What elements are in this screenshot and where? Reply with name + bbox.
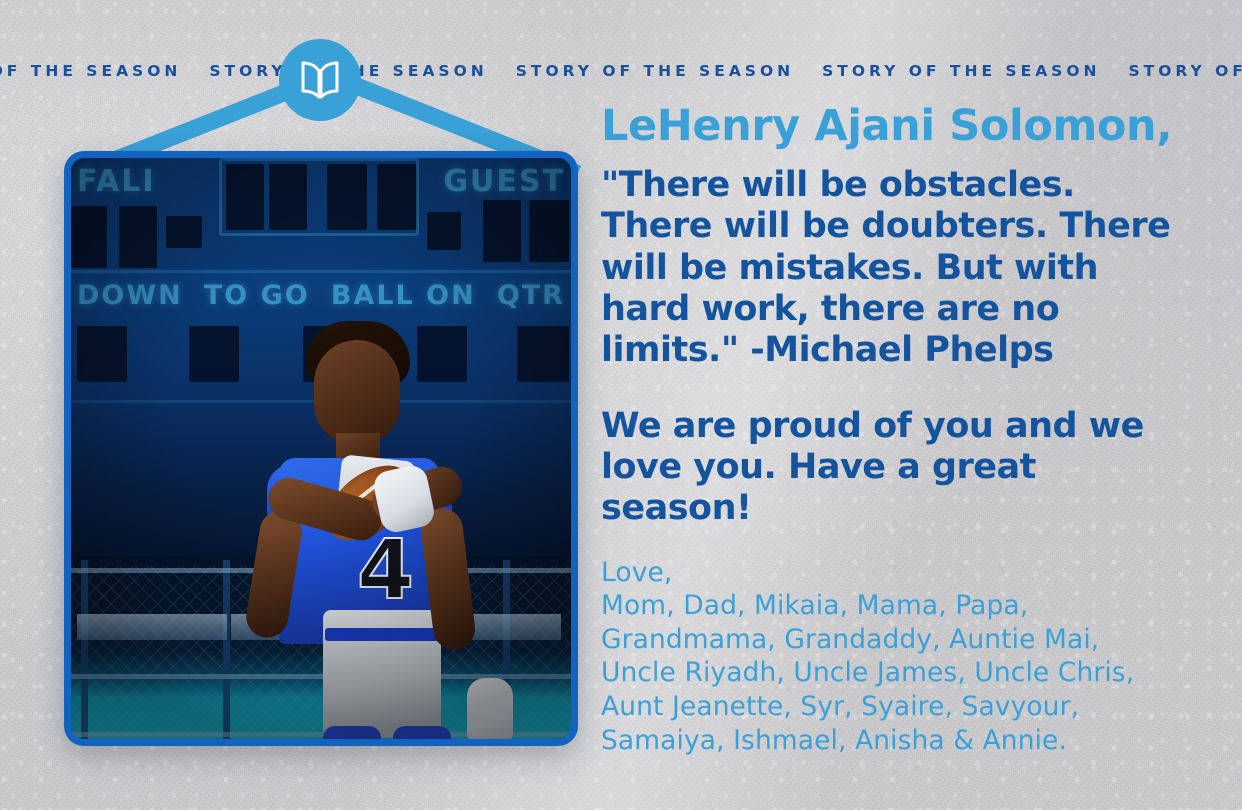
badge-circle — [279, 39, 361, 121]
player-photo: FALI GUEST DOWN TO GO BALL ON — [71, 158, 571, 739]
ticker-phrase: STORY OF THE SEASON — [0, 62, 181, 80]
ticker-phrase: STORY OF THE SEASON — [1129, 62, 1242, 80]
player-thigh-right — [393, 726, 451, 739]
ticker-banner: STORY OF THE SEASONSTORY OF THE SEASONST… — [0, 56, 1242, 86]
ticker-phrase: STORY OF THE SEASON — [516, 62, 794, 80]
player-photo-frame: FALI GUEST DOWN TO GO BALL ON — [64, 151, 578, 746]
signature-list: Love, Mom, Dad, Mikaia, Mama, Papa, Gran… — [601, 556, 1173, 758]
player-head — [314, 340, 400, 444]
inspirational-quote: "There will be obstacles. There will be … — [601, 165, 1181, 371]
pride-message: We are proud of you and we love you. Hav… — [601, 406, 1181, 530]
player-glove-lower — [467, 678, 513, 739]
player-thigh-left — [323, 726, 381, 739]
message-column: LeHenry Ajani Solomon, "There will be ob… — [601, 104, 1201, 757]
ticker-phrase: STORY OF THE SEASON — [822, 62, 1100, 80]
player-jersey-number: 4 — [357, 530, 414, 612]
player-figure: 4 — [71, 158, 571, 739]
story-of-the-season-graphic: STORY OF THE SEASONSTORY OF THE SEASONST… — [0, 0, 1242, 810]
player-belt — [325, 628, 441, 641]
open-book-icon — [297, 61, 343, 99]
athlete-name-headline: LeHenry Ajani Solomon, — [601, 104, 1201, 149]
